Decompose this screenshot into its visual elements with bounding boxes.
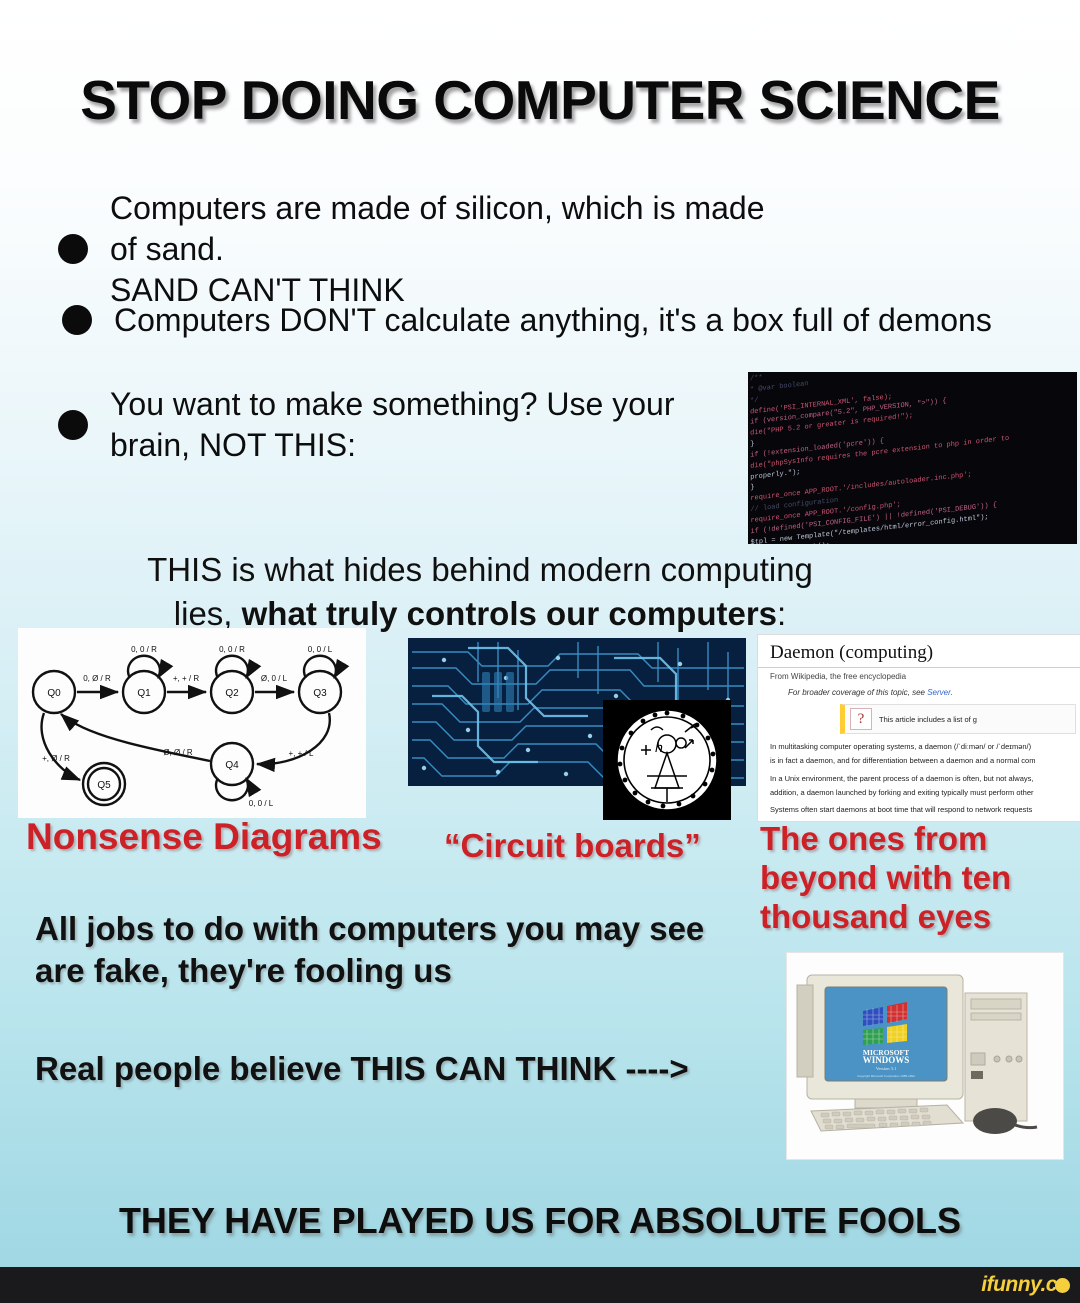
state-diagram-image: Q0 Q1 Q2 Q3 Q4 Q5 0, 0 / R 0, 0 / R 0, 0… (18, 628, 366, 818)
wiki-ambox: ? This article includes a list of g (840, 704, 1076, 734)
bullet-text-1: Computers are made of silicon, which is … (110, 188, 798, 311)
bullet-1-line-1: Computers are made of silicon, which is … (110, 188, 798, 270)
leadin-plain: lies, (174, 595, 242, 632)
leadin-tail: : (777, 595, 786, 632)
watermark-text: ifunny.c (981, 1273, 1057, 1296)
svg-text:ℎ: ℎ (655, 740, 663, 755)
wiki-hatnote: For broader coverage of this topic, see … (758, 683, 1080, 700)
wiki-hatnote-text: For broader coverage of this topic, see (788, 688, 927, 697)
leadin-bold: what truly controls our computers (242, 595, 777, 632)
wiki-ambox-text: This article includes a list of g (879, 715, 977, 724)
caption-daemons: The ones from beyond with ten thousand e… (760, 820, 1060, 937)
wiki-paragraph: is in fact a daemon, and for differentia… (758, 752, 1080, 766)
state-label-q0: Q0 (47, 688, 61, 699)
wikipedia-article-image: Daemon (computing) From Wikipedia, the f… (757, 634, 1080, 822)
wiki-paragraph: In a Unix environment, the parent proces… (758, 767, 1080, 784)
bullet-text-2: Computers DON'T calculate anything, it's… (114, 300, 992, 341)
bullet-3-line-1: You want to make something? Use your (110, 384, 674, 425)
caption-circuit-boards: “Circuit boards” (444, 827, 701, 865)
state-label-q1: Q1 (137, 688, 151, 699)
bullet-2-line-1: Computers DON'T calculate anything, it's… (114, 300, 992, 341)
state-label-q4: Q4 (225, 760, 239, 771)
bottom-bar: ifunny.c (0, 1267, 1080, 1303)
wiki-paragraph: In multitasking computer operating syste… (758, 738, 1080, 752)
smiley-icon (1055, 1278, 1070, 1293)
bullet-item-2: Computers DON'T calculate anything, it's… (62, 300, 1062, 341)
bottom-caption: THEY HAVE PLAYED US FOR ABSOLUTE FOOLS (0, 1200, 1080, 1242)
ifunny-watermark: ifunny.c (981, 1273, 1070, 1297)
edge-label-self-q1: 0, 0 / R (131, 645, 157, 654)
bullet-3-line-2: brain, NOT THIS: (110, 425, 674, 466)
automaton-svg: Q0 Q1 Q2 Q3 Q4 Q5 0, 0 / R 0, 0 / R 0, 0… (18, 628, 366, 818)
state-label-q5: Q5 (97, 780, 111, 791)
edge-label-q4-q0: Ø, Ø / R (163, 748, 193, 757)
leadin-text: THIS is what hides behind modern computi… (0, 548, 960, 635)
sigil-svg: ℎ (611, 704, 723, 816)
leadin-line-1: THIS is what hides behind modern computi… (0, 548, 960, 592)
windows-logo-version: Version 3.1 (876, 1066, 897, 1071)
bullet-dot-icon (58, 234, 88, 264)
state-label-q3: Q3 (313, 688, 327, 699)
caption-real-people: Real people believe THIS CAN THINK ----> (35, 1050, 775, 1088)
edge-label-self-q2: 0, 0 / R (219, 645, 245, 654)
bullet-item-3: You want to make something? Use your bra… (58, 384, 758, 466)
demon-sigil-image: ℎ (603, 700, 731, 820)
question-mark-icon: ? (850, 708, 872, 730)
wiki-hatnote-tail: . (950, 688, 952, 697)
meme-image: STOP DOING COMPUTER SCIENCE Computers ar… (0, 0, 1080, 1303)
retro-computer-image: MICROSOFT WINDOWS Version 3.1 Copyright … (786, 952, 1064, 1160)
edge-label-q0-q1: 0, Ø / R (83, 674, 111, 683)
windows-logo-copyright: Copyright Microsoft Corporation 1985-199… (857, 1074, 915, 1078)
edge-label-self-q3: 0, 0 / L (308, 645, 333, 654)
wiki-paragraph: Systems often start daemons at boot time… (758, 798, 1080, 815)
bullet-dot-icon (58, 410, 88, 440)
wiki-paragraph: addition, a daemon launched by forking a… (758, 784, 1080, 798)
windows-logo-text-2: WINDOWS (863, 1055, 910, 1065)
bullet-dot-icon (62, 305, 92, 335)
edge-label-q1-q2: +, + / R (173, 674, 199, 683)
caption-nonsense-diagrams: Nonsense Diagrams (26, 816, 382, 858)
bullet-item-1: Computers are made of silicon, which is … (58, 188, 798, 311)
bullet-text-3: You want to make something? Use your bra… (110, 384, 674, 466)
page-title: STOP DOING COMPUTER SCIENCE (0, 68, 1080, 132)
retro-pc-svg: MICROSOFT WINDOWS Version 3.1 Copyright … (787, 953, 1063, 1159)
wiki-subtitle: From Wikipedia, the free encyclopedia (758, 668, 1080, 683)
edge-label-q0-q5: +, Ø / R (42, 754, 70, 763)
edge-label-q3-q4: +, + / L (289, 749, 314, 758)
state-label-q2: Q2 (225, 688, 239, 699)
wiki-hatnote-link[interactable]: Server (927, 688, 950, 697)
code-screenshot-image: /** * @var boolean */ define('PSI_INTERN… (748, 372, 1077, 544)
caption-jobs-are-fake: All jobs to do with computers you may se… (35, 908, 735, 992)
code-lines: /** * @var boolean */ define('PSI_INTERN… (748, 372, 1077, 544)
wiki-article-title: Daemon (computing) (758, 635, 1080, 668)
edge-label-self-q4: 0, 0 / L (249, 799, 274, 808)
edge-label-q2-q3: Ø, 0 / L (261, 674, 288, 683)
